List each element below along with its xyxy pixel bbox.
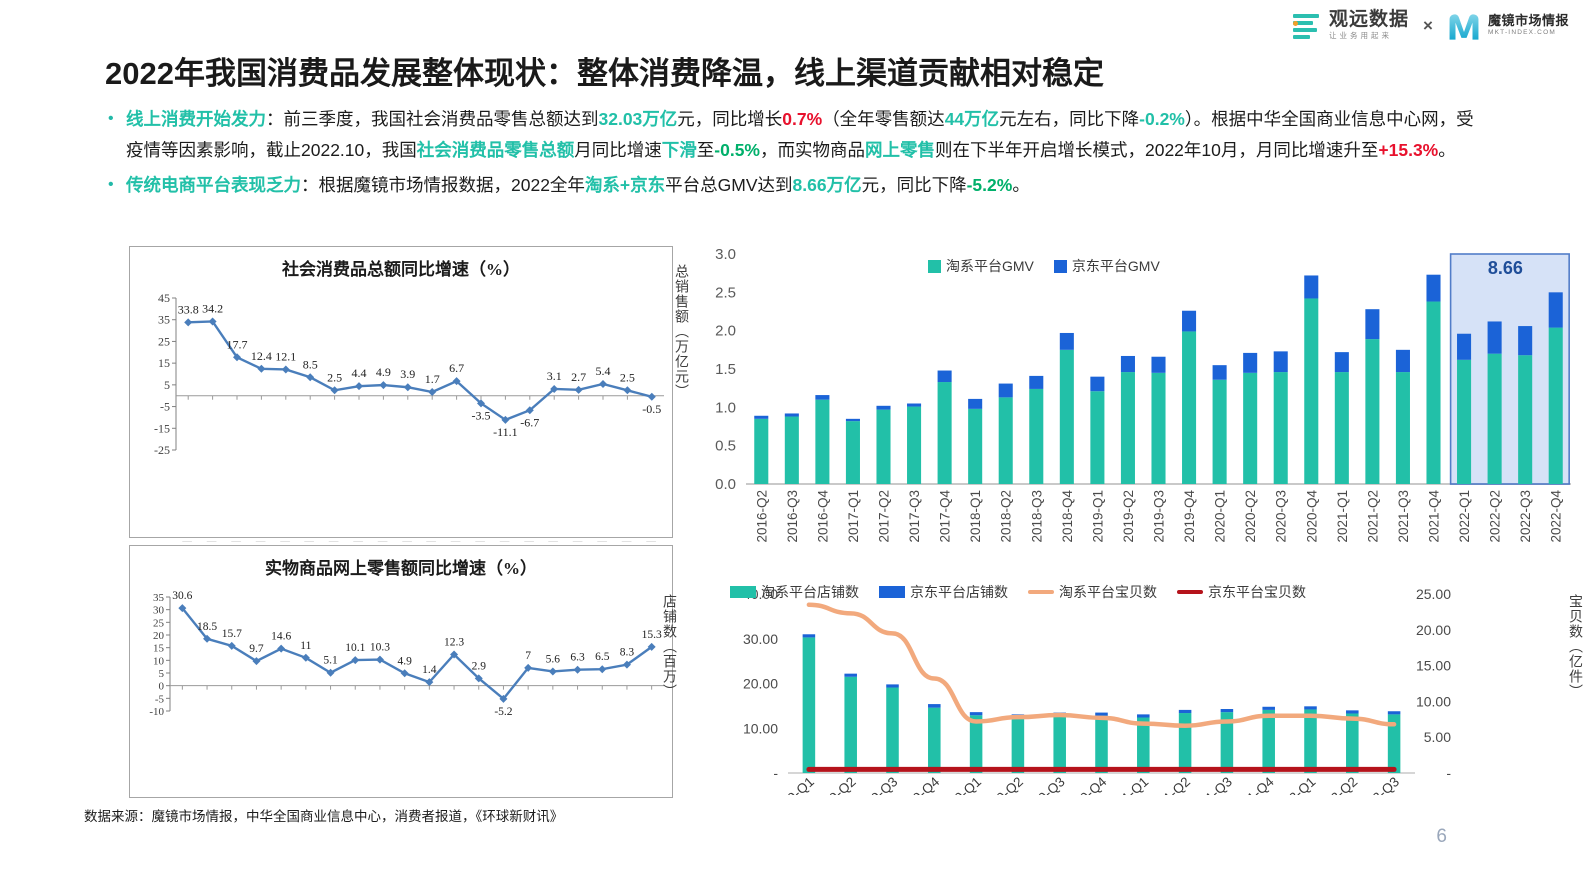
svg-text:2019-Q2: 2019-Q2 bbox=[810, 774, 859, 795]
svg-text:10月: 10月 bbox=[376, 540, 390, 542]
svg-text:2019-Q3: 2019-Q3 bbox=[1152, 490, 1167, 543]
mirror-m-icon bbox=[1447, 11, 1481, 41]
svg-text:45: 45 bbox=[158, 291, 170, 305]
bullet-segment: ：前三季度，我国社会消费品零售总额达到 bbox=[266, 109, 599, 129]
svg-text:5.00: 5.00 bbox=[1424, 729, 1451, 745]
svg-text:12.3: 12.3 bbox=[444, 637, 464, 649]
svg-text:8月: 8月 bbox=[596, 540, 610, 542]
svg-text:35: 35 bbox=[158, 313, 170, 327]
svg-text:-10: -10 bbox=[149, 706, 164, 718]
gmv-highlight-value: 8.66 bbox=[1488, 258, 1523, 279]
svg-text:2021-Q3: 2021-Q3 bbox=[1186, 774, 1235, 795]
svg-text:6.3: 6.3 bbox=[570, 652, 585, 664]
svg-text:33.8: 33.8 bbox=[178, 302, 199, 316]
shops-legend: 淘系平台店铺数京东平台店铺数淘系平台宝贝数京东平台宝贝数 bbox=[730, 582, 1320, 602]
svg-text:11月: 11月 bbox=[401, 540, 415, 542]
svg-text:12月: 12月 bbox=[425, 540, 439, 542]
svg-text:-5.2: -5.2 bbox=[494, 706, 512, 718]
svg-text:10.3: 10.3 bbox=[370, 642, 390, 654]
legend-item: 淘系平台GMV bbox=[928, 256, 1034, 276]
legend-item: 京东平台店铺数 bbox=[879, 582, 1008, 602]
svg-text:2020-Q1: 2020-Q1 bbox=[935, 774, 984, 795]
svg-text:2019-Q1: 2019-Q1 bbox=[1090, 490, 1105, 543]
bullet-segment: 元左右，同比下降 bbox=[999, 109, 1139, 129]
bullet-segment: 。 bbox=[1438, 140, 1456, 160]
svg-text:2016-Q2: 2016-Q2 bbox=[754, 490, 769, 543]
legend-swatch-icon bbox=[1177, 590, 1203, 594]
svg-text:2018-Q4: 2018-Q4 bbox=[1060, 490, 1075, 543]
bullet-segment: 元，同比下降 bbox=[862, 175, 967, 195]
bullet-item-2: • 传统电商平台表现乏力：根据魔镜市场情报数据，2022全年淘系+京东平台总GM… bbox=[108, 170, 1478, 201]
svg-text:4.4: 4.4 bbox=[352, 366, 367, 380]
svg-text:6.5: 6.5 bbox=[595, 651, 610, 663]
svg-text:25: 25 bbox=[153, 617, 165, 629]
svg-text:6.7: 6.7 bbox=[449, 361, 464, 375]
svg-text:-6.7: -6.7 bbox=[520, 415, 539, 429]
svg-text:0.0: 0.0 bbox=[715, 476, 736, 493]
bullet-segment: -0.2% bbox=[1139, 109, 1185, 129]
svg-text:2017-Q3: 2017-Q3 bbox=[907, 490, 922, 543]
svg-text:5.4: 5.4 bbox=[596, 364, 611, 378]
gmv-legend: 淘系平台GMV京东平台GMV bbox=[928, 256, 1174, 276]
bullet-segment: 淘系+京东 bbox=[585, 175, 665, 195]
mirror-name: 魔镜市场情报 bbox=[1488, 13, 1569, 28]
guanyuan-mark-icon bbox=[1291, 11, 1321, 41]
svg-text:2022-Q3: 2022-Q3 bbox=[1353, 774, 1402, 795]
legend-item: 淘系平台店铺数 bbox=[730, 582, 859, 602]
chart-platform-gmv: 总销售额（万亿元） 淘系平台GMV京东平台GMV 8.66 0.00.51.01… bbox=[668, 246, 1583, 576]
svg-text:17.7: 17.7 bbox=[227, 337, 248, 351]
svg-text:-3.5: -3.5 bbox=[472, 408, 491, 422]
line-plot-online: -10-50510152025303530.618.515.79.714.611… bbox=[130, 579, 672, 803]
shops-y-axis-title: 店铺数（百万） bbox=[662, 594, 677, 699]
svg-text:9月: 9月 bbox=[620, 540, 634, 542]
svg-text:-25: -25 bbox=[154, 443, 170, 457]
svg-text:5.1: 5.1 bbox=[323, 655, 338, 667]
svg-text:2016-Q3: 2016-Q3 bbox=[785, 490, 800, 543]
legend-label: 淘系平台GMV bbox=[946, 256, 1034, 276]
svg-text:10.1: 10.1 bbox=[345, 642, 365, 654]
legend-label: 京东平台宝贝数 bbox=[1208, 582, 1306, 602]
legend-label: 淘系平台宝贝数 bbox=[1059, 582, 1157, 602]
svg-text:1.0: 1.0 bbox=[715, 399, 736, 416]
bullet-segment: 。 bbox=[1012, 175, 1030, 195]
svg-text:7月: 7月 bbox=[572, 540, 586, 542]
bullet-item-1: • 线上消费开始发力：前三季度，我国社会消费品零售总额达到32.03万亿元，同比… bbox=[108, 104, 1478, 166]
mirror-domain: MKT-INDEX.COM bbox=[1488, 28, 1569, 38]
svg-text:2021-Q2: 2021-Q2 bbox=[1144, 774, 1193, 795]
svg-text:2019-Q4: 2019-Q4 bbox=[893, 774, 942, 795]
svg-text:5: 5 bbox=[159, 668, 165, 680]
svg-text:7: 7 bbox=[525, 650, 531, 662]
svg-text:-15: -15 bbox=[154, 421, 170, 435]
items-y2-axis-title: 宝贝数（亿件） bbox=[1568, 594, 1583, 699]
svg-text:5月: 5月 bbox=[523, 540, 537, 542]
svg-text:3.9: 3.9 bbox=[400, 367, 415, 381]
svg-text:2021-Q4: 2021-Q4 bbox=[1228, 774, 1277, 795]
svg-text:2020-Q4: 2020-Q4 bbox=[1304, 490, 1319, 543]
svg-text:8.5: 8.5 bbox=[303, 357, 318, 371]
page-number: 6 bbox=[1436, 826, 1447, 848]
svg-text:-: - bbox=[1446, 765, 1451, 781]
svg-text:2020-Q3: 2020-Q3 bbox=[1274, 490, 1289, 543]
svg-text:20.00: 20.00 bbox=[743, 676, 778, 692]
svg-text:2019-Q4: 2019-Q4 bbox=[1182, 490, 1197, 543]
svg-text:12.4: 12.4 bbox=[251, 349, 272, 363]
svg-text:34.2: 34.2 bbox=[202, 301, 223, 315]
bullet-segment: 元，同比增长 bbox=[677, 109, 782, 129]
bullet-segment: 线上消费开始发力 bbox=[126, 109, 266, 129]
legend-label: 淘系平台店铺数 bbox=[761, 582, 859, 602]
svg-text:3月: 3月 bbox=[206, 540, 220, 542]
svg-text:2020-Q1: 2020-Q1 bbox=[1213, 490, 1228, 543]
svg-text:2022-Q2: 2022-Q2 bbox=[1488, 490, 1503, 543]
guanyuan-tagline: 让业务用起来 bbox=[1329, 30, 1409, 41]
brand-logos: 观远数据 让业务用起来 × 魔镜市场情报 MKT-INDEX.COM bbox=[1291, 10, 1569, 41]
bullet-text-1: 线上消费开始发力：前三季度，我国社会消费品零售总额达到32.03万亿元，同比增长… bbox=[126, 104, 1478, 166]
svg-text:2022-Q1: 2022-Q1 bbox=[1269, 774, 1318, 795]
svg-text:2020-Q2: 2020-Q2 bbox=[977, 774, 1026, 795]
svg-text:18.5: 18.5 bbox=[197, 621, 217, 633]
legend-swatch-icon bbox=[1054, 260, 1067, 273]
svg-text:0: 0 bbox=[159, 681, 165, 693]
shops-combo-plot: -10.0020.0030.0040.00-5.0010.0015.0020.0… bbox=[660, 580, 1585, 795]
svg-text:2021-Q1: 2021-Q1 bbox=[1102, 774, 1151, 795]
svg-text:2022-Q1: 2022-Q1 bbox=[1457, 490, 1472, 543]
chart-title: 社会消费品总额同比增速（%） bbox=[130, 255, 672, 280]
svg-text:2021-Q1: 2021-Q1 bbox=[1335, 490, 1350, 543]
bullet-segment: -0.5% bbox=[714, 140, 760, 160]
svg-text:2.9: 2.9 bbox=[472, 660, 487, 672]
svg-text:2018-Q1: 2018-Q1 bbox=[968, 490, 983, 543]
svg-text:2017-Q4: 2017-Q4 bbox=[938, 490, 953, 543]
gmv-y-axis-title: 总销售额（万亿元） bbox=[674, 264, 689, 399]
svg-text:15.00: 15.00 bbox=[1416, 658, 1451, 674]
legend-swatch-icon bbox=[879, 586, 905, 598]
svg-text:2.5: 2.5 bbox=[620, 370, 635, 384]
bullet-segment: -5.2% bbox=[967, 175, 1013, 195]
svg-text:4.9: 4.9 bbox=[376, 365, 391, 379]
svg-text:10.00: 10.00 bbox=[1416, 693, 1451, 709]
chart-online-retail-yoy: 实物商品网上零售额同比增速（%） -10-50510152025303530.6… bbox=[129, 545, 673, 798]
svg-text:2.5: 2.5 bbox=[327, 370, 342, 384]
chart-retail-total-yoy: 社会消费品总额同比增速（%） -25-15-551525354533.834.2… bbox=[129, 246, 673, 538]
legend-label: 京东平台店铺数 bbox=[910, 582, 1008, 602]
bullet-segment: 网上零售 bbox=[865, 140, 935, 160]
svg-text:2019-Q2: 2019-Q2 bbox=[1121, 490, 1136, 543]
svg-text:2021年1-2月: 2021年1-2月 bbox=[180, 540, 195, 542]
svg-text:10.00: 10.00 bbox=[743, 720, 778, 736]
chart-title: 实物商品网上零售额同比增速（%） bbox=[130, 554, 672, 579]
legend-swatch-icon bbox=[1028, 590, 1054, 594]
guanyuan-logo: 观远数据 让业务用起来 bbox=[1291, 10, 1409, 41]
bullet-segment: 平台总GMV达到 bbox=[665, 175, 792, 195]
bullet-segment: 0.7% bbox=[782, 109, 822, 129]
svg-text:2020-Q2: 2020-Q2 bbox=[1243, 490, 1258, 543]
slide-root: 观远数据 让业务用起来 × 魔镜市场情报 MKT-INDEX.COM 2022年… bbox=[0, 0, 1587, 892]
svg-text:2017-Q2: 2017-Q2 bbox=[877, 490, 892, 543]
svg-text:-5: -5 bbox=[155, 693, 165, 705]
svg-text:6月: 6月 bbox=[547, 540, 561, 542]
legend-swatch-icon bbox=[730, 586, 756, 598]
legend-swatch-icon bbox=[928, 260, 941, 273]
bullet-segment: 社会消费品零售总额 bbox=[417, 140, 575, 160]
svg-text:12.1: 12.1 bbox=[275, 349, 296, 363]
svg-text:25.00: 25.00 bbox=[1416, 586, 1451, 602]
svg-text:5: 5 bbox=[164, 378, 170, 392]
bullet-segment: （全年零售额达 bbox=[822, 109, 945, 129]
svg-text:2017-Q1: 2017-Q1 bbox=[846, 490, 861, 543]
svg-text:-11.1: -11.1 bbox=[493, 425, 518, 439]
guanyuan-name: 观远数据 bbox=[1329, 10, 1409, 30]
svg-text:0.5: 0.5 bbox=[715, 438, 736, 455]
bullet-text-2: 传统电商平台表现乏力：根据魔镜市场情报数据，2022全年淘系+京东平台总GMV达… bbox=[126, 170, 1030, 201]
svg-text:2019-Q3: 2019-Q3 bbox=[851, 774, 900, 795]
svg-text:2021-Q3: 2021-Q3 bbox=[1396, 490, 1411, 543]
bullet-segment: 至 bbox=[697, 140, 715, 160]
svg-text:2.5: 2.5 bbox=[715, 284, 736, 301]
svg-text:30.6: 30.6 bbox=[172, 590, 192, 602]
bullet-segment: ：根据魔镜市场情报数据，2022全年 bbox=[301, 175, 585, 195]
logo-separator: × bbox=[1423, 16, 1433, 36]
page-title: 2022年我国消费品发展整体现状：整体消费降温，线上渠道贡献相对稳定 bbox=[105, 48, 1104, 93]
svg-text:14.6: 14.6 bbox=[271, 631, 291, 643]
svg-text:5月: 5月 bbox=[254, 540, 268, 542]
bullet-segment: 下滑 bbox=[662, 140, 697, 160]
svg-text:2.7: 2.7 bbox=[571, 370, 586, 384]
svg-text:2022-Q2: 2022-Q2 bbox=[1311, 774, 1360, 795]
svg-text:15: 15 bbox=[153, 643, 165, 655]
svg-text:2021-Q2: 2021-Q2 bbox=[1365, 490, 1380, 543]
legend-item: 京东平台宝贝数 bbox=[1177, 582, 1306, 602]
svg-text:30.00: 30.00 bbox=[743, 631, 778, 647]
svg-text:2016-Q4: 2016-Q4 bbox=[815, 490, 830, 543]
svg-text:8月: 8月 bbox=[328, 540, 342, 542]
gmv-bar-plot: 0.00.51.01.52.02.53.02016-Q22016-Q32016-… bbox=[668, 246, 1583, 576]
svg-text:15.7: 15.7 bbox=[222, 628, 242, 640]
svg-text:1.4: 1.4 bbox=[422, 664, 437, 676]
svg-text:7月: 7月 bbox=[303, 540, 317, 542]
svg-text:15.3: 15.3 bbox=[642, 629, 662, 641]
svg-text:-5: -5 bbox=[160, 400, 170, 414]
svg-text:4月: 4月 bbox=[498, 540, 512, 542]
chart-shops-items: 店铺数（百万） 宝贝数（亿件） 淘系平台店铺数京东平台店铺数淘系平台宝贝数京东平… bbox=[660, 580, 1585, 795]
legend-item: 京东平台GMV bbox=[1054, 256, 1160, 276]
svg-text:15: 15 bbox=[158, 356, 170, 370]
svg-text:3.0: 3.0 bbox=[715, 246, 736, 263]
svg-text:8.3: 8.3 bbox=[620, 647, 635, 659]
svg-text:1.7: 1.7 bbox=[425, 372, 440, 386]
legend-item: 淘系平台宝贝数 bbox=[1028, 582, 1157, 602]
svg-text:1.5: 1.5 bbox=[715, 361, 736, 378]
svg-text:3.1: 3.1 bbox=[547, 369, 562, 383]
svg-text:6月: 6月 bbox=[279, 540, 293, 542]
svg-text:10: 10 bbox=[153, 655, 165, 667]
bullet-list: • 线上消费开始发力：前三季度，我国社会消费品零售总额达到32.03万亿元，同比… bbox=[108, 104, 1478, 205]
svg-text:4.9: 4.9 bbox=[397, 655, 412, 667]
bullet-segment: 月同比增速 bbox=[574, 140, 662, 160]
svg-text:2018-Q3: 2018-Q3 bbox=[1029, 490, 1044, 543]
bullet-segment: 则在下半年开启增长模式，2022年10月，月同比增速升至 bbox=[935, 140, 1378, 160]
svg-text:30: 30 bbox=[153, 605, 165, 617]
bullet-marker: • bbox=[108, 170, 126, 200]
svg-text:2.0: 2.0 bbox=[715, 323, 736, 340]
svg-text:20.00: 20.00 bbox=[1416, 622, 1451, 638]
bullet-segment: 44万亿 bbox=[945, 109, 999, 129]
svg-text:25: 25 bbox=[158, 334, 170, 348]
bullet-segment: 32.03万亿 bbox=[599, 109, 678, 129]
svg-text:2018-Q2: 2018-Q2 bbox=[999, 490, 1014, 543]
svg-text:-: - bbox=[773, 765, 778, 781]
svg-text:5.6: 5.6 bbox=[546, 653, 561, 665]
svg-text:2020-Q3: 2020-Q3 bbox=[1019, 774, 1068, 795]
svg-text:11: 11 bbox=[300, 640, 311, 652]
svg-text:9月: 9月 bbox=[352, 540, 366, 542]
svg-text:3月: 3月 bbox=[474, 540, 488, 542]
line-plot-retail: -25-15-551525354533.834.217.712.412.18.5… bbox=[130, 280, 672, 542]
bullet-marker: • bbox=[108, 104, 126, 134]
svg-text:4月: 4月 bbox=[230, 540, 244, 542]
svg-text:20: 20 bbox=[153, 630, 165, 642]
bullet-segment: 8.66万亿 bbox=[793, 175, 862, 195]
svg-text:2022-Q4: 2022-Q4 bbox=[1549, 490, 1564, 543]
svg-text:35: 35 bbox=[153, 592, 165, 604]
data-source-note: 数据来源：魔镜市场情报，中华全国商业信息中心，消费者报道，《环球新财讯》 bbox=[84, 805, 563, 825]
mirror-logo: 魔镜市场情报 MKT-INDEX.COM bbox=[1447, 11, 1569, 41]
svg-text:2021-Q4: 2021-Q4 bbox=[1427, 490, 1442, 543]
svg-text:2022年1-2月: 2022年1-2月 bbox=[449, 540, 464, 542]
bullet-segment: 传统电商平台表现乏力 bbox=[126, 175, 301, 195]
svg-text:10月: 10月 bbox=[645, 540, 659, 542]
svg-text:2020-Q4: 2020-Q4 bbox=[1060, 774, 1109, 795]
svg-text:-0.5: -0.5 bbox=[642, 402, 661, 416]
legend-label: 京东平台GMV bbox=[1072, 256, 1160, 276]
bullet-segment: ，而实物商品 bbox=[760, 140, 865, 160]
bullet-segment: +15.3% bbox=[1378, 140, 1438, 160]
svg-text:9.7: 9.7 bbox=[249, 643, 264, 655]
svg-text:2022-Q3: 2022-Q3 bbox=[1518, 490, 1533, 543]
